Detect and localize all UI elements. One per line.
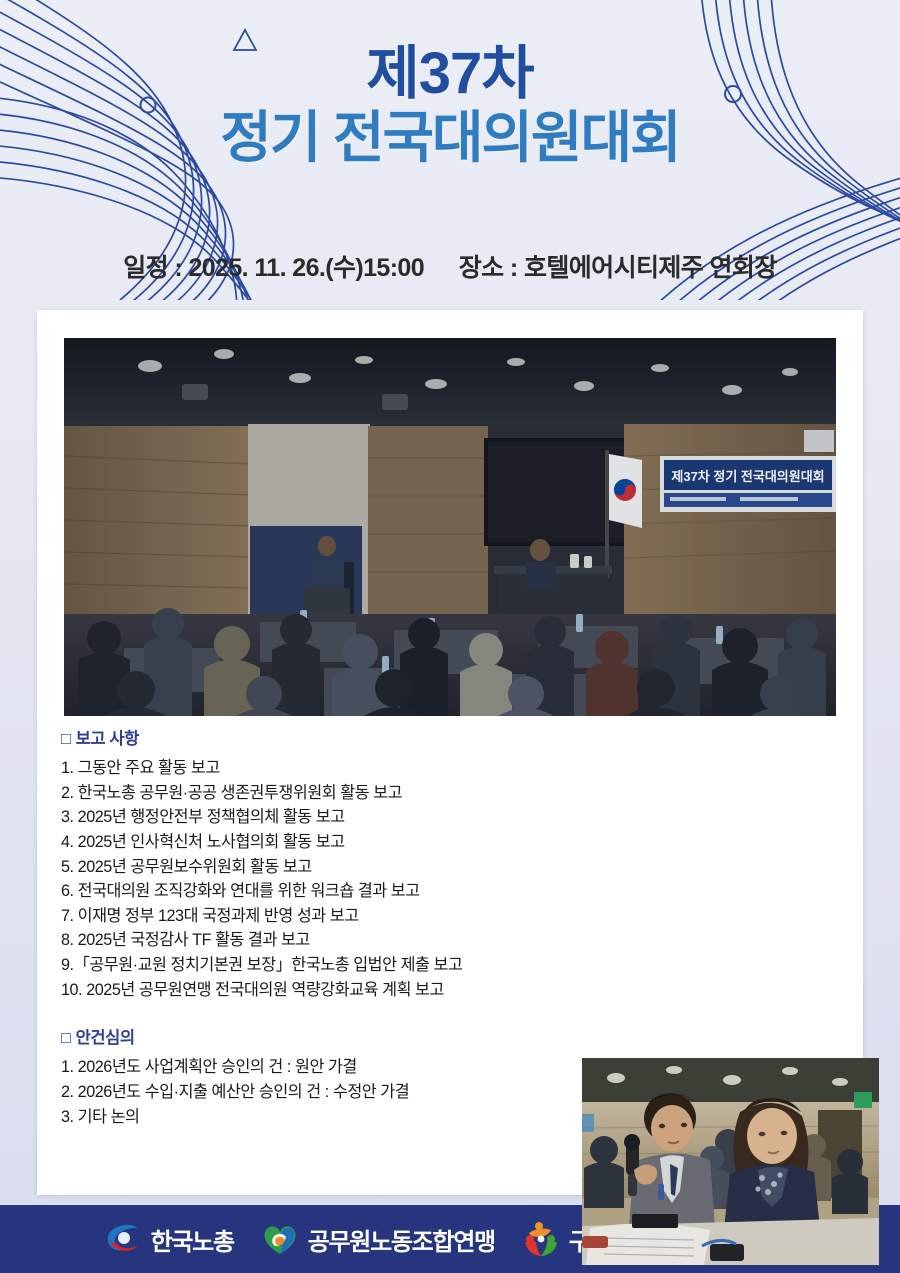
content-card: 제37차 정기 전국대의원대회 xyxy=(37,310,863,1195)
venue-text: 장소 : 호텔에어시티제주 연회장 xyxy=(459,254,777,282)
square-bullet-icon: □ xyxy=(61,1029,71,1048)
hero-conference-photo: 제37차 정기 전국대의원대회 xyxy=(64,338,836,716)
list-item: 8. 2025년 국정감사 TF 활동 결과 보고 xyxy=(61,928,839,953)
report-item-list: 1. 그동안 주요 활동 보고 2. 한국노총 공무원·공공 생존권투쟁위원회 … xyxy=(61,756,839,1002)
list-item: 6. 전국대의원 조직강화와 연대를 위한 워크숍 결과 보고 xyxy=(61,879,839,904)
list-item: 5. 2025년 공무원보수위원회 활동 보고 xyxy=(61,855,839,880)
org-logo-fktu: 한국노총 xyxy=(103,1219,234,1259)
guro-people-logo-icon xyxy=(521,1219,561,1259)
org-logo-kgeu: 공무원노동조합연맹 xyxy=(260,1219,495,1259)
schedule-text: 일정 : 2025. 11. 26.(수)15:00 xyxy=(123,254,424,282)
list-item: 2. 한국노총 공무원·공공 생존권투쟁위원회 활동 보고 xyxy=(61,781,839,806)
poster-title: 제37차 정기 전국대의원대회 xyxy=(0,44,900,170)
list-item: 4. 2025년 인사혁신처 노사협의회 활동 보고 xyxy=(61,830,839,855)
list-item: 9.「공무원·교원 정치기본권 보장」한국노총 입법안 제출 보고 xyxy=(61,953,839,978)
org-name-label: 공무원노동조합연맹 xyxy=(308,1222,495,1257)
report-heading-text: 보고 사항 xyxy=(76,730,139,748)
title-line-1: 제37차 xyxy=(0,44,900,103)
org-name-label: 한국노총 xyxy=(151,1222,234,1257)
schedule-venue-line: 일정 : 2025. 11. 26.(수)15:00 장소 : 호텔에어시티제주… xyxy=(0,248,900,284)
kgeu-heart-logo-icon xyxy=(260,1219,300,1259)
list-item: 3. 2025년 행정안전부 정책협의체 활동 보고 xyxy=(61,805,839,830)
agenda-heading-text: 안건심의 xyxy=(76,1029,135,1047)
list-item: 1. 그동안 주요 활동 보고 xyxy=(61,756,839,781)
delegates-photo xyxy=(582,1058,879,1265)
report-section: □보고 사항 1. 그동안 주요 활동 보고 2. 한국노총 공무원·공공 생존… xyxy=(61,725,839,1002)
agenda-section-heading: □안건심의 xyxy=(61,1024,839,1048)
title-line-2: 정기 전국대의원대회 xyxy=(0,107,900,170)
list-item: 7. 이재명 정부 123대 국정과제 반영 성과 보고 xyxy=(61,904,839,929)
report-section-heading: □보고 사항 xyxy=(61,725,839,749)
list-item: 10. 2025년 공무원연맹 전국대의원 역량강화교육 계획 보고 xyxy=(61,978,839,1003)
fktu-swoosh-logo-icon xyxy=(103,1219,143,1259)
square-bullet-icon: □ xyxy=(61,730,71,749)
event-poster: 제37차 정기 전국대의원대회 일정 : 2025. 11. 26.(수)15:… xyxy=(0,0,900,1273)
